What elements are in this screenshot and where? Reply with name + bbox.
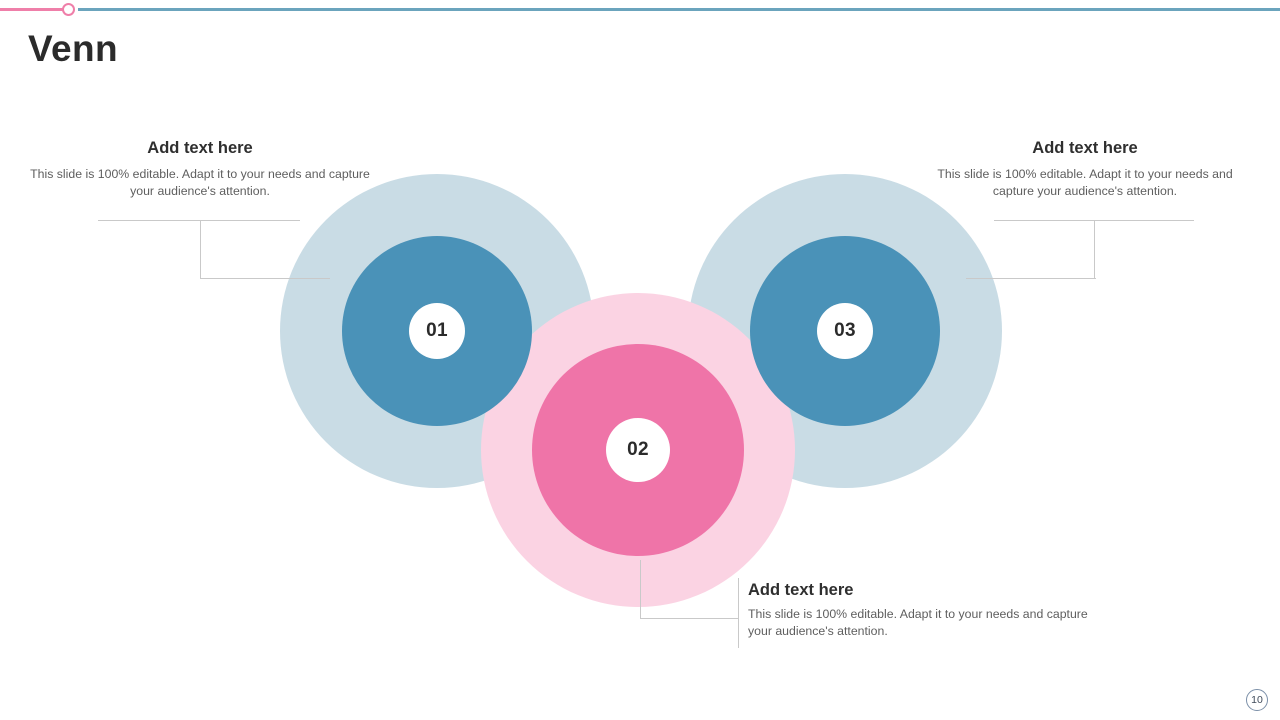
- connector-left-bottom: [200, 278, 330, 279]
- text-block-bottom: Add text here This slide is 100% editabl…: [748, 580, 1088, 639]
- connector-bottom-right-vertical: [738, 578, 739, 648]
- connector-left-vertical: [200, 220, 201, 278]
- venn-inner-circles: [342, 236, 940, 556]
- text-block-left: Add text here This slide is 100% editabl…: [28, 138, 372, 199]
- text-block-right-heading: Add text here: [920, 138, 1250, 159]
- connector-left-top: [98, 220, 300, 221]
- badge-label-02: 02: [627, 439, 649, 461]
- text-block-bottom-heading: Add text here: [748, 580, 1088, 601]
- page-number: 10: [1246, 689, 1268, 711]
- connector-bottom-horizontal: [640, 618, 739, 619]
- connector-right-vertical: [1094, 220, 1095, 278]
- badge-label-01: 01: [426, 320, 448, 342]
- connector-bottom-left-vertical: [640, 560, 641, 618]
- text-block-right: Add text here This slide is 100% editabl…: [920, 138, 1250, 199]
- text-block-left-body: This slide is 100% editable. Adapt it to…: [28, 166, 372, 198]
- text-block-bottom-body: This slide is 100% editable. Adapt it to…: [748, 606, 1088, 638]
- badge-label-03: 03: [834, 320, 856, 342]
- text-block-right-body: This slide is 100% editable. Adapt it to…: [920, 166, 1250, 198]
- text-block-left-heading: Add text here: [28, 138, 372, 159]
- connector-right-bottom: [966, 278, 1096, 279]
- slide-canvas: Venn 01 02 03 Add text here This: [0, 0, 1280, 720]
